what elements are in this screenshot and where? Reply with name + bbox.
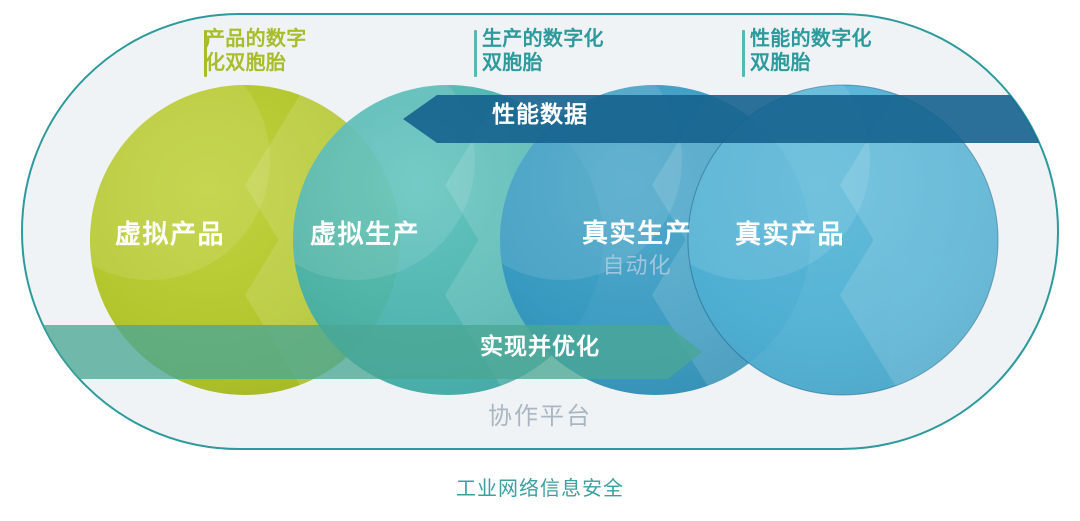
callout-rule-performance xyxy=(742,30,745,77)
callout-rule-product xyxy=(204,30,207,77)
diagram-canvas xyxy=(0,0,1080,521)
band-realize-optimize xyxy=(22,325,702,379)
callout-rule-production xyxy=(474,30,477,77)
band-performance-data xyxy=(403,95,1058,143)
digital-twin-diagram: 产品的数字 化双胞胎 生产的数字化 双胞胎 性能的数字化 双胞胎 性能数据 实现… xyxy=(0,0,1080,521)
